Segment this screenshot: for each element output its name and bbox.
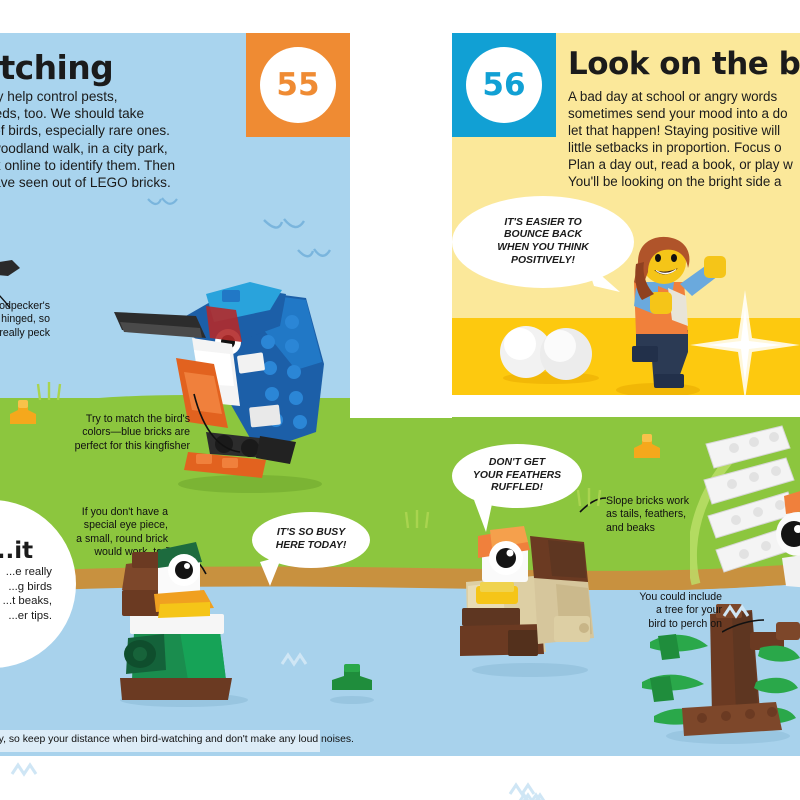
- right-page-bottom-margin: [358, 395, 800, 417]
- note-line-3: perfect for this kingfisher: [62, 440, 190, 453]
- flying-bird-icon: [262, 218, 306, 244]
- page-bottom-margin: [0, 756, 800, 800]
- badge-circle: 56: [466, 47, 542, 123]
- positive-bubble-text: IT'S EASIER TO BOUNCE BACK WHEN YOU THIN…: [497, 217, 589, 267]
- bubble-line-1: DON'T GET: [473, 457, 561, 470]
- note-line-2: neck is hinged, so: [0, 313, 50, 326]
- bubble-line-2: YOUR FEATHERS: [473, 470, 561, 483]
- grass-tuft-icon: [404, 508, 430, 530]
- note-line-1: You could include: [606, 591, 722, 604]
- woodpecker-note: This woodpecker's neck is hinged, so it …: [0, 300, 50, 340]
- right-page-number-badge: 56: [452, 33, 556, 137]
- bubble-line-4: POSITIVELY!: [497, 255, 589, 268]
- bottom-banner-text: ...y, so keep your distance when bird-wa…: [0, 734, 354, 745]
- tip-line-4: ...er tips.: [0, 609, 52, 624]
- note-line-3: bird to perch on: [606, 618, 722, 631]
- right-body-line-2: sometimes send your mood into a do: [568, 105, 800, 122]
- kingfisher-note: Try to match the bird's colors—blue bric…: [62, 413, 190, 453]
- perched-bird-silhouette-icon: [0, 258, 30, 284]
- so-busy-bubble-text: IT'S SO BUSY HERE TODAY!: [276, 527, 347, 552]
- left-body-line-5: ...s or look online to identify them. Th…: [0, 157, 238, 174]
- note-line-3: it can really peck: [0, 327, 50, 340]
- badge-circle: 55: [260, 47, 336, 123]
- left-body-line-6: ...s you have seen out of LEGO bricks.: [0, 174, 238, 191]
- left-body-line-3: ...abitats of birds, especially rare one…: [0, 122, 238, 139]
- page-gutter: [350, 0, 452, 418]
- left-page-body: ...etty, they help control pests, ...rea…: [0, 88, 238, 191]
- yellow-flower-brick-icon: [630, 434, 664, 464]
- bottom-banner: ...y, so keep your distance when bird-wa…: [0, 730, 320, 752]
- tip-line-3: ...t beaks,: [0, 594, 52, 609]
- bubble-line-1: IT'S EASIER TO: [497, 217, 589, 230]
- right-body-line-3: let that happen! Staying positive will: [568, 122, 800, 139]
- tip-heading: ...it: [0, 538, 33, 564]
- tip-line-1: ...e really: [0, 565, 52, 580]
- spread-page: ...atching ...etty, they help control pe…: [0, 0, 800, 800]
- left-body-line-2: ...read seeds, too. We should take: [0, 105, 238, 122]
- gutter-top: [350, 0, 452, 33]
- badge-number: 56: [482, 67, 525, 103]
- note-line-1: This woodpecker's: [0, 300, 50, 313]
- grass-tuft-icon: [576, 486, 602, 508]
- tip-line-2: ...g birds: [0, 580, 52, 595]
- left-page-title: ...atching: [0, 48, 262, 87]
- note-line-1: If you don't have a: [36, 506, 168, 519]
- bubble-line-3: RUFFLED!: [473, 482, 561, 495]
- grass-tuft-icon: [36, 380, 62, 402]
- left-body-line-4: ...e on a woodland walk, in a city park,: [0, 140, 238, 157]
- bubble-line-2: BOUNCE BACK: [497, 229, 589, 242]
- right-body-line-5: Plan a day out, read a book, or play w: [568, 156, 800, 173]
- right-page-body: A bad day at school or angry words somet…: [568, 88, 800, 191]
- right-body-line-1: A bad day at school or angry words: [568, 88, 800, 105]
- note-line-1: Try to match the bird's: [62, 413, 190, 426]
- note-line-2: a tree for your: [606, 604, 722, 617]
- yellow-flower-brick-icon: [6, 400, 40, 430]
- badge-number: 55: [276, 67, 319, 103]
- feathers-bubble-text: DON'T GET YOUR FEATHERS RUFFLED!: [473, 457, 561, 495]
- right-body-line-4: little setbacks in proportion. Focus o: [568, 139, 800, 156]
- positive-bubble: IT'S EASIER TO BOUNCE BACK WHEN YOU THIN…: [452, 196, 634, 288]
- tip-body: ...e really ...g birds ...t beaks, ...er…: [0, 565, 52, 623]
- right-body-line-6: You'll be looking on the bright side a: [568, 173, 800, 190]
- bubble-line-3: WHEN YOU THINK: [497, 242, 589, 255]
- left-body-line-1: ...etty, they help control pests,: [0, 88, 238, 105]
- water-wave-icon: [280, 652, 310, 668]
- water-wave-icon: [722, 604, 752, 620]
- water-wave-icon: [520, 792, 550, 800]
- flying-bird-icon: [146, 196, 180, 216]
- tree-perch-note: You could include a tree for your bird t…: [606, 591, 722, 631]
- left-page-number-badge: 55: [246, 33, 350, 137]
- feathers-bubble: DON'T GET YOUR FEATHERS RUFFLED!: [452, 444, 582, 508]
- bubble-line-1: IT'S SO BUSY: [276, 527, 347, 540]
- so-busy-bubble: IT'S SO BUSY HERE TODAY!: [252, 512, 370, 568]
- bubble-line-2: HERE TODAY!: [276, 540, 347, 553]
- water-wave-icon: [10, 762, 40, 778]
- right-page-title: Look on the brig: [568, 46, 800, 82]
- note-line-2: colors—blue bricks are: [62, 426, 190, 439]
